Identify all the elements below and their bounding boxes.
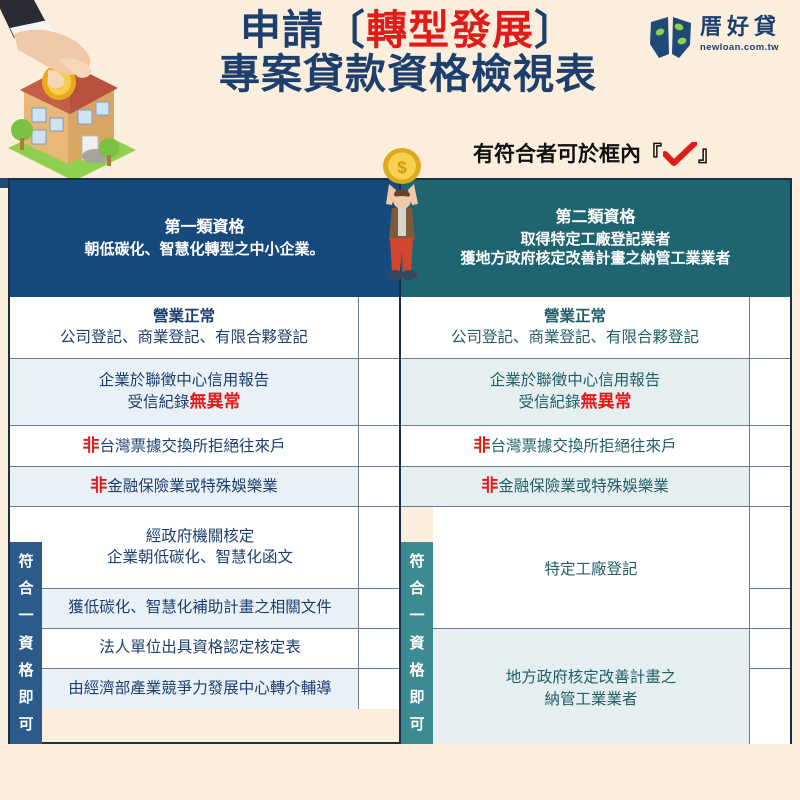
checkbox-cell[interactable] (359, 669, 399, 709)
row-content: 非金融保險業或特殊娛樂業 (401, 467, 750, 506)
row-line: 獲低碳化、智慧化補助計畫之相關文件 (68, 598, 332, 618)
column-2-subtitle-2: 獲地方政府核定改善計畫之納管工業業者 (460, 250, 730, 269)
row-line: 公司登記、商業登記、有限合夥登記 (60, 328, 308, 348)
vlabel-char: 可 (18, 717, 33, 732)
title-line-2: 專案貸款資格檢視表 (148, 52, 668, 96)
row-content: 營業正常 公司登記、商業登記、有限合夥登記 (401, 297, 750, 358)
row-content: 非台灣票據交換所拒絕往來戶 (10, 426, 359, 466)
row-content: 非金融保險業或特殊娛樂業 (10, 467, 359, 506)
table-row: 經政府機關核定 企業朝低碳化、智慧化函文 (10, 507, 399, 589)
row-line-prefix: 非 (82, 436, 99, 455)
row-content: 由經濟部產業競爭力發展中心轉介輔導 (42, 669, 359, 709)
row-line-text: 受信紀錄 (518, 394, 580, 411)
logo-url: newloan.com.tw (700, 42, 781, 53)
row-content: 企業於聯徵中心信用報告 受信紀錄無異常 (10, 359, 359, 425)
row-line: 經政府機關核定 (146, 527, 255, 547)
row-content: 獲低碳化、智慧化補助計畫之相關文件 (42, 589, 359, 628)
row-line: 非台灣票據交換所拒絕往來戶 (82, 435, 285, 457)
column-1-vertical-label: 符 合 一 資 格 即 可 (10, 542, 42, 744)
table-row: 非金融保險業或特殊娛樂業 (401, 467, 790, 507)
leaf-shield-icon (648, 14, 694, 60)
table-row: 非金融保險業或特殊娛樂業 (10, 467, 399, 507)
column-2-lower-section: 特定工廠登記 地方政府核定改善計畫之 納管工業業者 (401, 507, 790, 744)
checkbox-stack (750, 507, 790, 744)
title-line1-pre: 申請〔 (240, 7, 366, 53)
row-content: 特定工廠登記 (433, 507, 750, 629)
vlabel-char: 可 (409, 717, 424, 732)
checkbox-cell[interactable] (750, 426, 790, 466)
row-content: 法人單位出具資格認定核定表 (42, 629, 359, 668)
row-line: 非金融保險業或特殊娛樂業 (90, 475, 278, 497)
row-line: 法人單位出具資格認定核定表 (99, 638, 301, 658)
checkbox-cell[interactable] (359, 589, 399, 628)
vlabel-char: 格 (18, 663, 33, 678)
qualification-column-type-1: 第一類資格 朝低碳化、智慧化轉型之中小企業。 營業正常 公司登記、商業登記、有限… (8, 178, 400, 744)
vlabel-char: 資 (18, 636, 33, 651)
row-line-emphasis: 無異常 (190, 392, 241, 411)
row-line: 非金融保險業或特殊娛樂業 (481, 475, 669, 497)
row-line-prefix: 非 (90, 476, 107, 495)
row-line: 營業正常 (153, 307, 215, 327)
table-row: 非台灣票據交換所拒絕往來戶 (401, 426, 790, 467)
vlabel-char: 資 (409, 636, 424, 651)
table-row: 獲低碳化、智慧化補助計畫之相關文件 (10, 589, 399, 629)
checkbox-cell[interactable] (359, 467, 399, 506)
column-1-lower-section: 經政府機關核定 企業朝低碳化、智慧化函文 獲低碳化、智慧化補助計畫之相關文件 法… (10, 507, 399, 744)
row-content: 經政府機關核定 企業朝低碳化、智慧化函文 (42, 507, 359, 588)
row-line-prefix: 非 (473, 436, 490, 455)
title-line-1: 申請〔轉型發展〕 (148, 8, 668, 52)
column-1-title: 第一類資格 (164, 218, 244, 238)
vlabel-char: 格 (409, 663, 424, 678)
checkbox-cell[interactable] (750, 467, 790, 506)
table-row: 企業於聯徵中心信用報告 受信紀錄無異常 (10, 359, 399, 426)
row-line: 營業正常 (544, 307, 606, 327)
row-line: 公司登記、商業登記、有限合夥登記 (451, 328, 699, 348)
qualification-column-type-2: 第二類資格 取得特定工廠登記業者 獲地方政府核定改善計畫之納管工業業者 營業正常… (400, 178, 792, 744)
checkbox-cell[interactable] (359, 507, 399, 588)
table-row: 企業於聯徵中心信用報告 受信紀錄無異常 (401, 359, 790, 426)
checkbox-cell[interactable] (750, 359, 790, 425)
checkbox-cell[interactable] (750, 629, 790, 669)
row-line: 受信紀錄無異常 (127, 391, 240, 413)
row-line-text: 台灣票據交換所拒絕往來戶 (99, 438, 285, 455)
row-line-text: 金融保險業或特殊娛樂業 (498, 478, 669, 495)
table-row: 營業正常 公司登記、商業登記、有限合夥登記 (401, 297, 790, 359)
row-line: 企業朝低碳化、智慧化函文 (107, 548, 293, 568)
vlabel-char: 合 (409, 581, 424, 596)
checkbox-cell[interactable] (750, 507, 790, 589)
title-line1-post: 〕 (534, 7, 576, 53)
column-1-body: 營業正常 公司登記、商業登記、有限合夥登記 企業於聯徵中心信用報告 受信紀錄無異… (10, 297, 399, 744)
row-line-prefix: 非 (481, 476, 498, 495)
column-2-title: 第二類資格 (555, 208, 635, 228)
note-pre: 有符合者可於框內『 (473, 143, 662, 166)
vlabel-char: 即 (18, 690, 33, 705)
note-post: 』 (698, 143, 719, 166)
row-content: 地方政府核定改善計畫之 納管工業業者 (433, 629, 750, 744)
table-row: 營業正常 公司登記、商業登記、有限合夥登記 (10, 297, 399, 359)
checkbox-cell[interactable] (359, 359, 399, 425)
svg-text:$: $ (397, 158, 407, 177)
row-line-text: 台灣票據交換所拒絕往來戶 (490, 438, 676, 455)
checkbox-cell[interactable] (750, 589, 790, 629)
row-content: 非台灣票據交換所拒絕往來戶 (401, 426, 750, 466)
check-mark-icon (663, 142, 697, 166)
row-line-emphasis: 無異常 (581, 392, 632, 411)
row-line: 受信紀錄無異常 (518, 391, 631, 413)
table-row: 由經濟部產業競爭力發展中心轉介輔導 (10, 669, 399, 709)
column-2-vertical-label: 符 合 一 資 格 即 可 (401, 542, 433, 744)
vlabel-char: 一 (409, 608, 424, 623)
row-content: 企業於聯徵中心信用報告 受信紀錄無異常 (401, 359, 750, 425)
checkbox-cell[interactable] (750, 669, 790, 744)
vlabel-char: 合 (18, 581, 33, 596)
vlabel-char: 符 (18, 554, 33, 569)
logo-brand-name: 厝好貸 (700, 14, 781, 40)
title-line1-highlight: 轉型發展 (366, 7, 534, 53)
checkbox-cell[interactable] (359, 629, 399, 668)
row-line: 納管工業業者 (544, 687, 637, 709)
checkbox-cell[interactable] (359, 426, 399, 466)
column-1-subtitle-1: 朝低碳化、智慧化轉型之中小企業。 (84, 241, 324, 260)
row-line: 由經濟部產業競爭力發展中心轉介輔導 (68, 679, 332, 699)
row-line: 非台灣票據交換所拒絕往來戶 (473, 435, 676, 457)
hand-dropping-coin-into-house-icon: $ (0, 0, 146, 188)
row-line: 企業於聯徵中心信用報告 (99, 371, 270, 391)
row-line-text: 受信紀錄 (127, 394, 189, 411)
row-line: 地方政府核定改善計畫之 (506, 665, 677, 687)
column-2-header: 第二類資格 取得特定工廠登記業者 獲地方政府核定改善計畫之納管工業業者 (401, 180, 790, 297)
vlabel-char: 符 (409, 554, 424, 569)
row-line-text: 金融保險業或特殊娛樂業 (107, 478, 278, 495)
table-row: 非台灣票據交換所拒絕往來戶 (10, 426, 399, 467)
row-content: 營業正常 公司登記、商業登記、有限合夥登記 (10, 297, 359, 358)
column-2-subtitle-1: 取得特定工廠登記業者 (520, 231, 670, 250)
page-title: 申請〔轉型發展〕 專案貸款資格檢視表 (148, 8, 668, 97)
checkbox-cell[interactable] (359, 297, 399, 358)
brand-logo[interactable]: 厝好貸 newloan.com.tw (648, 14, 794, 70)
checkbox-cell[interactable] (750, 297, 790, 358)
vlabel-char: 即 (409, 690, 424, 705)
column-1-header: 第一類資格 朝低碳化、智慧化轉型之中小企業。 (10, 180, 399, 297)
column-2-body: 營業正常 公司登記、商業登記、有限合夥登記 企業於聯徵中心信用報告 受信紀錄無異… (401, 297, 790, 744)
checkbox-instruction: 有符合者可於框內『』 (400, 138, 792, 168)
person-holding-gold-coin-icon: $ (366, 148, 436, 283)
row-line: 特定工廠登記 (544, 557, 637, 579)
table-row: 法人單位出具資格認定核定表 (10, 629, 399, 669)
vlabel-char: 一 (18, 608, 33, 623)
row-line: 企業於聯徵中心信用報告 (490, 371, 661, 391)
